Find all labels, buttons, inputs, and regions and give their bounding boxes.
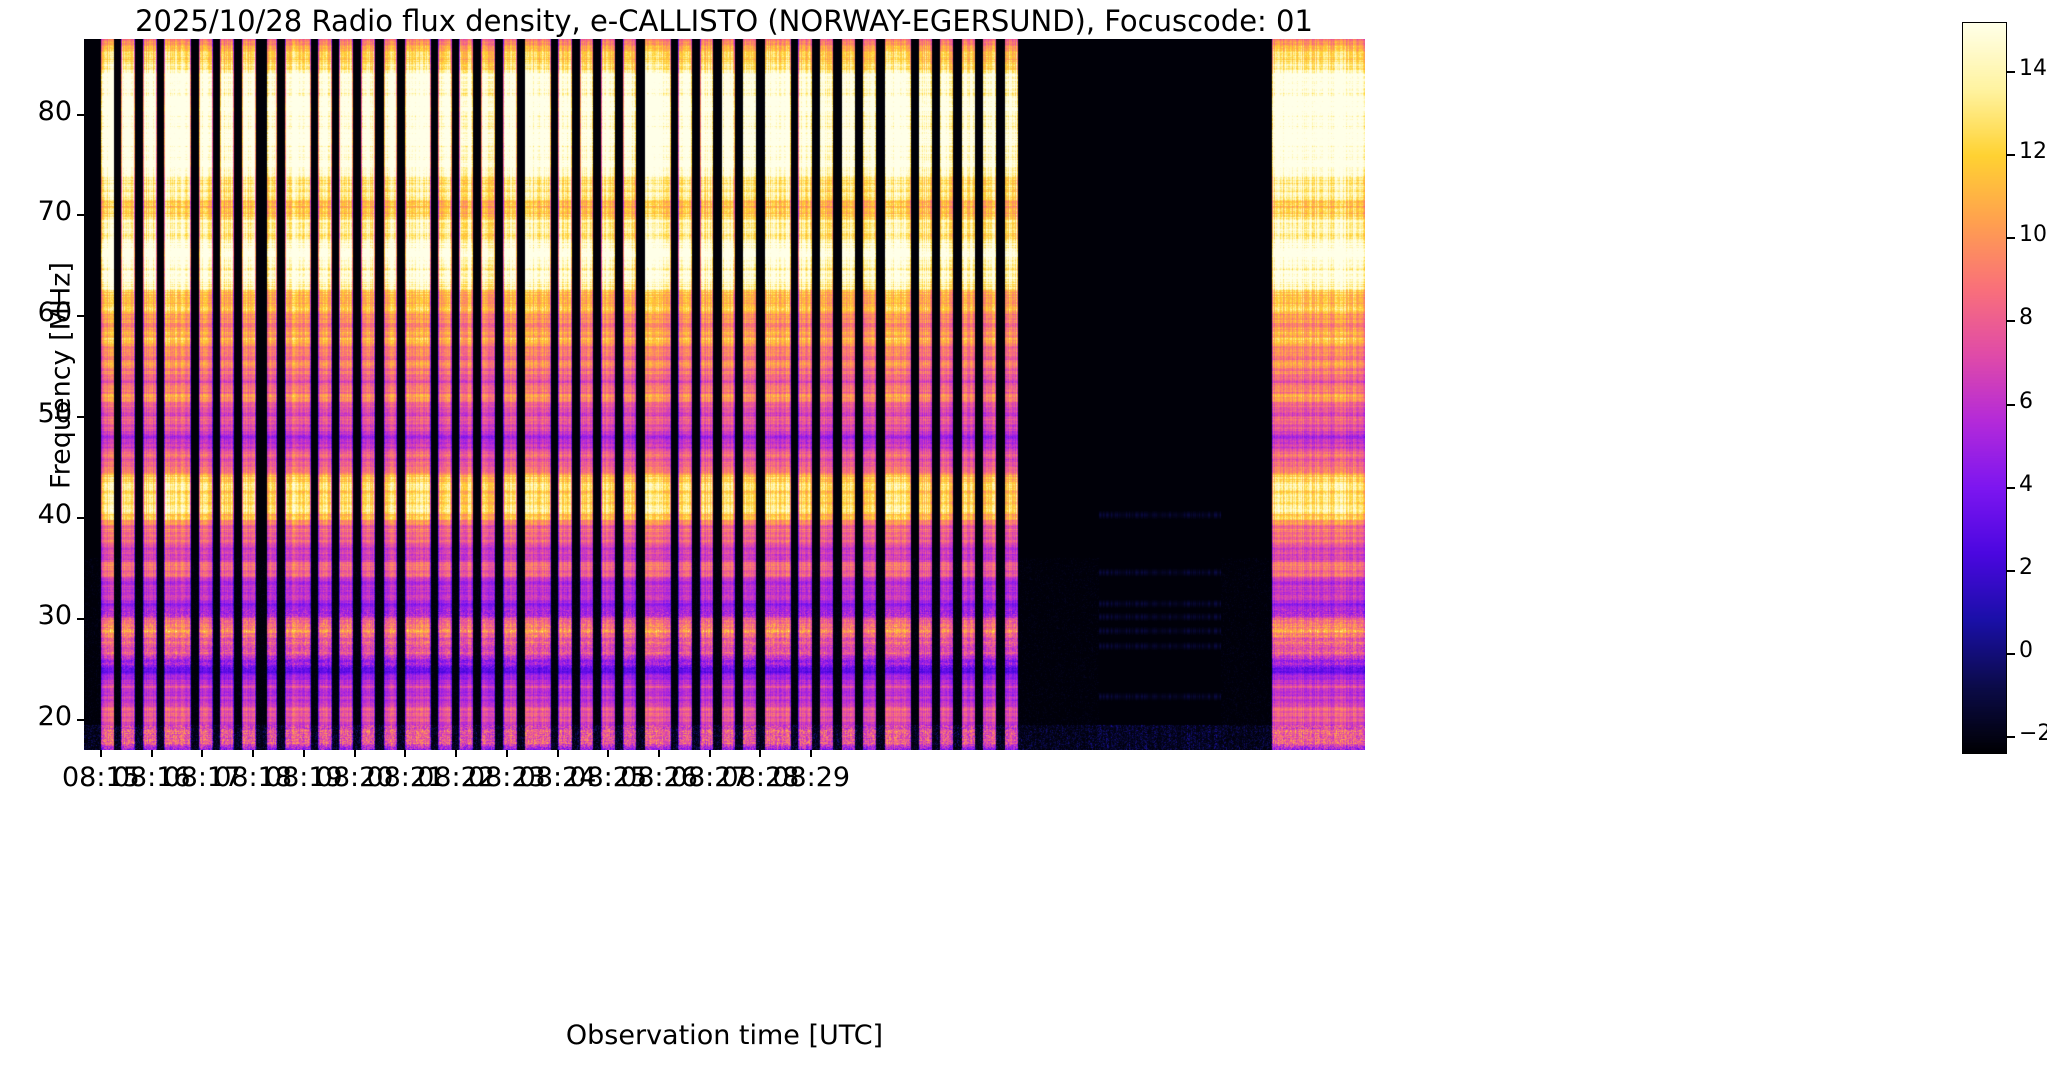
colorbar-tick-mark xyxy=(2007,320,2015,322)
x-tick-mark xyxy=(557,750,559,757)
x-tick-mark xyxy=(455,750,457,757)
y-tick-mark xyxy=(77,618,84,620)
colorbar-tick-label: 4 xyxy=(2019,472,2033,497)
y-tick-mark xyxy=(77,416,84,418)
y-tick-label: 20 xyxy=(20,701,72,732)
y-tick-mark xyxy=(77,214,84,216)
y-tick-label: 30 xyxy=(20,600,72,631)
colorbar-tick-label: 14 xyxy=(2019,56,2047,81)
x-tick-mark xyxy=(709,750,711,757)
x-tick-mark xyxy=(151,750,153,757)
page-title: 2025/10/28 Radio flux density, e-CALLIST… xyxy=(84,4,1364,38)
colorbar-tick-mark xyxy=(2007,487,2015,489)
colorbar-tick-label: 0 xyxy=(2019,638,2033,663)
y-tick-label: 60 xyxy=(20,297,72,328)
spectrogram-figure: 2025/10/28 Radio flux density, e-CALLIST… xyxy=(0,0,2047,1067)
colorbar-tick-mark xyxy=(2007,653,2015,655)
colorbar xyxy=(1962,22,2007,754)
x-tick-mark xyxy=(404,750,406,757)
colorbar-tick-mark xyxy=(2007,570,2015,572)
colorbar-tick-mark xyxy=(2007,71,2015,73)
spectrogram-image xyxy=(84,39,1365,750)
x-tick-mark xyxy=(759,750,761,757)
y-tick-mark xyxy=(77,315,84,317)
colorbar-tick-label: 8 xyxy=(2019,305,2033,330)
colorbar-tick-label: 12 xyxy=(2019,139,2047,164)
x-tick-mark xyxy=(658,750,660,757)
x-tick-mark xyxy=(506,750,508,757)
x-tick-label: 08:29 xyxy=(731,762,891,793)
y-tick-mark xyxy=(77,114,84,116)
colorbar-tick-mark xyxy=(2007,404,2015,406)
x-tick-mark xyxy=(100,750,102,757)
y-tick-label: 40 xyxy=(20,499,72,530)
colorbar-tick-label: 10 xyxy=(2019,222,2047,247)
colorbar-tick-label: −2 xyxy=(2019,721,2047,746)
y-tick-label: 50 xyxy=(20,398,72,429)
y-tick-mark xyxy=(77,517,84,519)
colorbar-tick-mark xyxy=(2007,154,2015,156)
colorbar-tick-mark xyxy=(2007,237,2015,239)
y-tick-label: 70 xyxy=(20,196,72,227)
x-tick-mark xyxy=(810,750,812,757)
x-tick-mark xyxy=(201,750,203,757)
x-axis-label: Observation time [UTC] xyxy=(84,1020,1365,1051)
x-tick-mark xyxy=(252,750,254,757)
spectrogram-plot-area xyxy=(84,39,1365,750)
x-tick-mark xyxy=(303,750,305,757)
colorbar-gradient xyxy=(1963,23,2006,753)
colorbar-tick-label: 2 xyxy=(2019,555,2033,580)
x-tick-mark xyxy=(354,750,356,757)
x-tick-mark xyxy=(607,750,609,757)
y-tick-mark xyxy=(77,719,84,721)
y-tick-label: 80 xyxy=(20,96,72,127)
colorbar-tick-label: 6 xyxy=(2019,389,2033,414)
colorbar-tick-mark xyxy=(2007,736,2015,738)
